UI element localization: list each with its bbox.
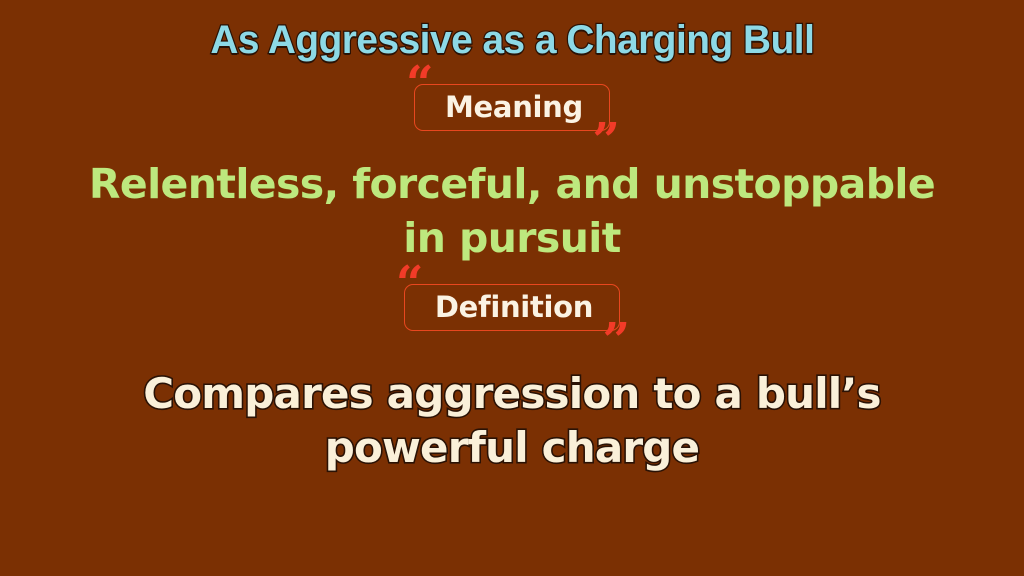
page-title: As Aggressive as a Charging Bull bbox=[210, 18, 814, 62]
close-quote-icon: ” bbox=[592, 117, 620, 165]
meaning-body: Relentless, forceful, and unstoppable in… bbox=[89, 157, 935, 265]
meaning-body-line-2: in pursuit bbox=[89, 211, 935, 265]
definition-badge-label: Definition bbox=[435, 290, 593, 324]
open-quote-icon: “ bbox=[396, 260, 424, 308]
definition-body-line-1: Compares aggression to a bull’s bbox=[143, 367, 881, 422]
open-quote-icon: “ bbox=[406, 60, 434, 108]
definition-body: Compares aggression to a bull’s powerful… bbox=[143, 367, 881, 476]
meaning-badge-label: Meaning bbox=[445, 90, 583, 124]
meaning-badge-frame: Meaning bbox=[414, 84, 610, 131]
meaning-body-line-1: Relentless, forceful, and unstoppable bbox=[89, 157, 935, 211]
close-quote-icon: ” bbox=[603, 317, 631, 365]
slide-root: As Aggressive as a Charging Bull “ Meani… bbox=[0, 0, 1024, 576]
definition-body-line-2: powerful charge bbox=[143, 421, 881, 476]
meaning-badge: “ Meaning ” bbox=[414, 84, 610, 131]
definition-badge-frame: Definition bbox=[404, 284, 620, 331]
definition-badge: “ Definition ” bbox=[404, 284, 620, 331]
